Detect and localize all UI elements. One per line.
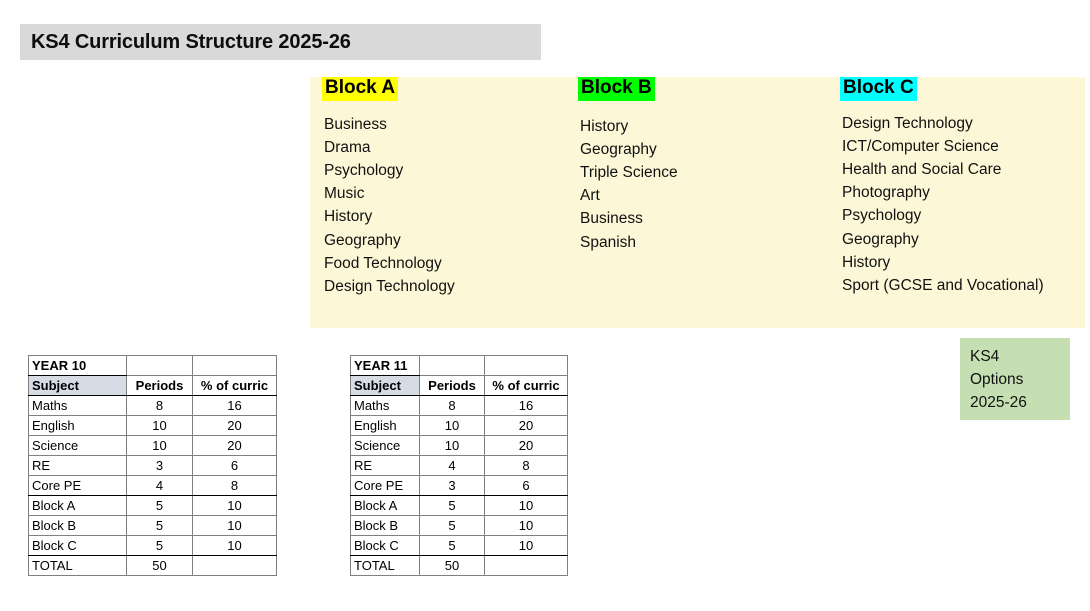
list-item: Geography	[842, 228, 1044, 251]
table-row: Maths 8 16	[29, 396, 277, 416]
list-item: Music	[324, 182, 455, 205]
table-row: RE 3 6	[29, 456, 277, 476]
cell-subject: Block B	[351, 516, 420, 536]
cell-curric: 20	[193, 436, 277, 456]
page-title: KS4 Curriculum Structure 2025-26	[20, 31, 351, 54]
cell-total-periods: 50	[420, 556, 485, 576]
column-header-curric: % of curric	[485, 376, 568, 396]
cell-periods: 4	[127, 476, 193, 496]
cell-subject: English	[351, 416, 420, 436]
list-item: Triple Science	[580, 161, 678, 184]
year-10-allocation-table: YEAR 10 Subject Periods % of curric Math…	[28, 355, 277, 576]
cell-subject: Science	[351, 436, 420, 456]
table-row: English 10 20	[29, 416, 277, 436]
option-blocks-panel: Block A Business Drama Psychology Music …	[310, 77, 1085, 328]
cell-subject: Block A	[351, 496, 420, 516]
list-item: Business	[324, 113, 455, 136]
cell-periods: 5	[127, 536, 193, 556]
table-row: Science 10 20	[351, 436, 568, 456]
cell-subject: Maths	[351, 396, 420, 416]
list-item: Geography	[324, 229, 455, 252]
cell-curric: 8	[193, 476, 277, 496]
cell-periods-highlighted: 4	[420, 456, 485, 476]
year-label-cell: YEAR 11	[351, 356, 420, 376]
cell-total-label: TOTAL	[29, 556, 127, 576]
cell-curric: 16	[193, 396, 277, 416]
table-row: Science 10 20	[29, 436, 277, 456]
cell-curric: 10	[485, 536, 568, 556]
table-row: RE 4 8	[351, 456, 568, 476]
ks4-options-line-3: 2025-26	[970, 391, 1070, 414]
cell-periods: 10	[420, 436, 485, 456]
cell-curric: 8	[485, 456, 568, 476]
cell-subject: RE	[29, 456, 127, 476]
list-item: Design Technology	[324, 275, 455, 298]
cell-subject: Science	[29, 436, 127, 456]
cell-periods: 10	[127, 436, 193, 456]
option-block-b-subject-list: History Geography Triple Science Art Bus…	[580, 115, 678, 254]
cell-periods: 5	[420, 536, 485, 556]
list-item: Art	[580, 184, 678, 207]
option-block-b-heading: Block B	[578, 77, 655, 101]
table-row-year-banner: YEAR 11	[351, 356, 568, 376]
blank-cell	[193, 356, 277, 376]
year-11-allocation-table: YEAR 11 Subject Periods % of curric Math…	[350, 355, 568, 576]
cell-subject: Block C	[29, 536, 127, 556]
table-row: Block B 5 10	[351, 516, 568, 536]
cell-subject: Core PE	[29, 476, 127, 496]
cell-periods: 10	[420, 416, 485, 436]
list-item: Health and Social Care	[842, 158, 1044, 181]
list-item: Photography	[842, 181, 1044, 204]
list-item: ICT/Computer Science	[842, 135, 1044, 158]
list-item: Sport (GCSE and Vocational)	[842, 274, 1044, 297]
cell-curric: 6	[193, 456, 277, 476]
ks4-options-line-1: KS4	[970, 345, 1070, 368]
list-item: Psychology	[842, 204, 1044, 227]
column-header-subject: Subject	[351, 376, 420, 396]
list-item: Psychology	[324, 159, 455, 182]
page-title-bar: KS4 Curriculum Structure 2025-26	[20, 24, 541, 60]
cell-periods: 3	[127, 456, 193, 476]
list-item: Design Technology	[842, 112, 1044, 135]
blank-cell	[420, 356, 485, 376]
blank-cell	[127, 356, 193, 376]
cell-periods: 8	[127, 396, 193, 416]
list-item: Spanish	[580, 231, 678, 254]
cell-curric: 10	[485, 496, 568, 516]
cell-curric: 6	[485, 476, 568, 496]
table-row: Block B 5 10	[29, 516, 277, 536]
table-row-total: TOTAL 50	[29, 556, 277, 576]
cell-periods: 10	[127, 416, 193, 436]
option-block-b: Block B History Geography Triple Science…	[578, 77, 678, 254]
option-block-c-subject-list: Design Technology ICT/Computer Science H…	[842, 112, 1044, 298]
cell-periods: 5	[420, 496, 485, 516]
cell-curric: 20	[485, 416, 568, 436]
option-block-c-heading: Block C	[840, 77, 917, 101]
cell-total-label: TOTAL	[351, 556, 420, 576]
cell-total-curric	[485, 556, 568, 576]
list-item: History	[842, 251, 1044, 274]
table-row: Maths 8 16	[351, 396, 568, 416]
option-block-a: Block A Business Drama Psychology Music …	[322, 77, 455, 298]
year-label-cell: YEAR 10	[29, 356, 127, 376]
list-item: History	[324, 205, 455, 228]
column-header-periods: Periods	[420, 376, 485, 396]
table-row: Block C 5 10	[29, 536, 277, 556]
column-header-curric: % of curric	[193, 376, 277, 396]
cell-curric: 10	[193, 496, 277, 516]
list-item: Food Technology	[324, 252, 455, 275]
cell-subject: Core PE	[351, 476, 420, 496]
column-header-subject: Subject	[29, 376, 127, 396]
table-row-total: TOTAL 50	[351, 556, 568, 576]
table-row: Block A 5 10	[351, 496, 568, 516]
table-header-row: Subject Periods % of curric	[29, 376, 277, 396]
cell-periods: 8	[420, 396, 485, 416]
cell-curric: 10	[193, 536, 277, 556]
table-row: Core PE 3 6	[351, 476, 568, 496]
cell-curric: 10	[193, 516, 277, 536]
cell-subject: English	[29, 416, 127, 436]
cell-subject: Block A	[29, 496, 127, 516]
list-item: Drama	[324, 136, 455, 159]
cell-periods: 3	[420, 476, 485, 496]
table-row-year-banner: YEAR 10	[29, 356, 277, 376]
list-item: History	[580, 115, 678, 138]
option-block-a-heading: Block A	[322, 77, 398, 101]
cell-curric: 20	[485, 436, 568, 456]
table-row: English 10 20	[351, 416, 568, 436]
blank-cell	[485, 356, 568, 376]
cell-periods: 5	[127, 496, 193, 516]
cell-total-curric	[193, 556, 277, 576]
cell-curric: 20	[193, 416, 277, 436]
table-row: Block A 5 10	[29, 496, 277, 516]
cell-curric: 10	[485, 516, 568, 536]
table-row: Core PE 4 8	[29, 476, 277, 496]
cell-subject: Block B	[29, 516, 127, 536]
table-header-row: Subject Periods % of curric	[351, 376, 568, 396]
cell-periods: 5	[127, 516, 193, 536]
cell-periods: 5	[420, 516, 485, 536]
cell-subject: Block C	[351, 536, 420, 556]
option-block-a-subject-list: Business Drama Psychology Music History …	[324, 113, 455, 299]
cell-total-periods: 50	[127, 556, 193, 576]
option-block-c: Block C Design Technology ICT/Computer S…	[840, 77, 1044, 297]
cell-subject: RE	[351, 456, 420, 476]
list-item: Geography	[580, 138, 678, 161]
cell-curric: 16	[485, 396, 568, 416]
ks4-options-callout: KS4 Options 2025-26	[960, 338, 1070, 420]
cell-subject: Maths	[29, 396, 127, 416]
table-row: Block C 5 10	[351, 536, 568, 556]
column-header-periods: Periods	[127, 376, 193, 396]
ks4-options-line-2: Options	[970, 368, 1070, 391]
list-item: Business	[580, 207, 678, 230]
